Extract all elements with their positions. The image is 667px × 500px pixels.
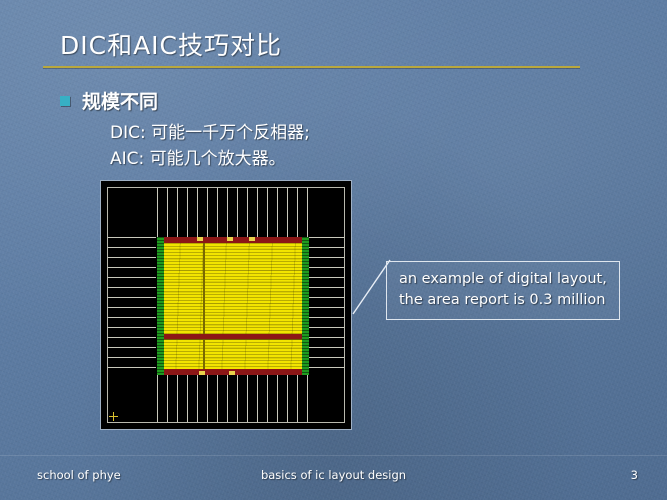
io-strip-right [302,237,309,375]
footer-page-number: 3 [631,468,638,482]
ic-layout-figure [100,180,352,430]
core-horizontal-divider [157,339,309,340]
ic-layout-canvas [101,181,351,429]
bullet-heading-label: 规模不同 [82,87,158,114]
pin-marker [227,237,233,241]
core-area [157,237,309,375]
body-line-aic: AIC: 可能几个放大器。 [110,144,286,169]
square-bullet-icon [60,96,70,106]
footer: school of phye basics of ic layout desig… [0,466,667,488]
slide: DIC和AIC技巧对比 规模不同 DIC: 可能一千万个反相器; AIC: 可能… [0,0,667,500]
body-line-dic: DIC: 可能一千万个反相器; [110,118,310,143]
pin-marker [229,371,235,375]
bullet-heading-row: 规模不同 [60,87,158,114]
pad-routing-lines-left [108,237,156,375]
callout-line-1: an example of digital layout, [399,269,609,290]
title-underline [43,66,580,68]
footer-center-label: basics of ic layout design [0,468,667,482]
power-rail-top [157,237,309,243]
routing-congestion-texture [157,237,309,375]
page-title: DIC和AIC技巧对比 [60,26,282,62]
pin-marker [249,237,255,241]
core-vertical-divider [203,237,205,375]
io-strip-left [157,237,164,375]
callout-line-2: the area report is 0.3 million [399,290,609,311]
footer-divider [0,455,667,456]
pad-routing-lines-top [157,188,309,238]
origin-crosshair-icon [109,412,118,421]
callout-box: an example of digital layout, the area r… [386,261,620,320]
pin-marker [197,237,203,241]
pin-marker [199,371,205,375]
power-rail-middle [157,334,309,339]
pad-routing-lines-bottom [157,372,309,422]
